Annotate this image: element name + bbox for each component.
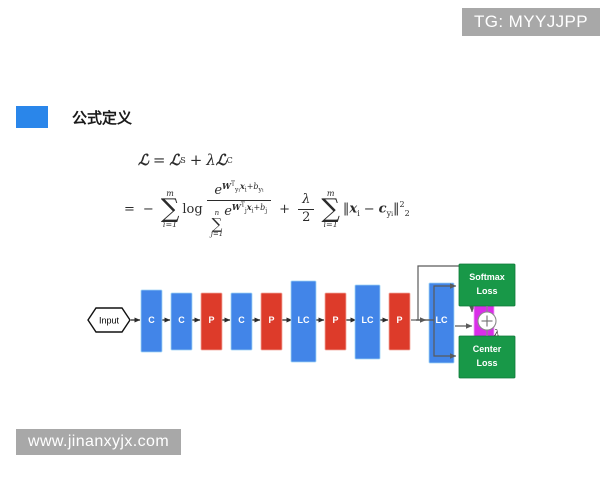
- formula-line-1: ℒ = ℒS + λ ℒC: [120, 145, 520, 175]
- section-title-text: 公式定义: [72, 107, 132, 128]
- exp-base-den: e: [224, 204, 232, 219]
- weight-w-den: W: [232, 202, 241, 212]
- numerator-exponent: WTyixi+byi: [222, 182, 264, 191]
- fc-branch-lines: [416, 286, 456, 356]
- loss-total-symbol: ℒ: [138, 151, 149, 169]
- minus-sign-norm: −: [360, 202, 379, 217]
- sigma-glyph-den: ∑: [212, 217, 223, 231]
- sum-lower-limit-den: j=1: [211, 231, 224, 238]
- exp-base-num: e: [214, 183, 222, 198]
- combine-plus-icon: [478, 312, 496, 330]
- norm-superscript: 2: [400, 200, 405, 209]
- loss-center-symbol: ℒ: [216, 151, 227, 169]
- loss-softmax-symbol: ℒ: [169, 151, 180, 169]
- layer-blocks: C C P C P LC P LC P LC: [141, 281, 454, 363]
- layer-label-6: LC: [298, 315, 310, 325]
- plus-sign-2: +: [275, 202, 294, 217]
- summation-softmax: m ∑ i=1: [161, 190, 180, 229]
- watermark-top-right: TG: MYYJJPP: [462, 8, 600, 36]
- center-loss-label-line2: Loss: [476, 358, 497, 368]
- input-node: Input: [88, 308, 130, 332]
- lambda-over-two: λ 2: [298, 193, 314, 226]
- summation-center: m ∑ i=1: [321, 190, 340, 229]
- log-operator: log: [182, 202, 202, 217]
- center-loss-label-line1: Center: [473, 344, 502, 354]
- weight-w-num: W: [222, 181, 231, 191]
- layer-label-5: P: [268, 315, 274, 325]
- input-node-label: Input: [99, 316, 120, 326]
- formula-line-2: = − m ∑ i=1 log eWTyixi+byi n ∑ j=1 eWTj…: [120, 181, 520, 237]
- layer-label-3: P: [208, 315, 214, 325]
- center-c-symbol: c: [379, 202, 387, 217]
- watermark-bottom-left: www.jinanxyjx.com: [16, 429, 181, 455]
- norm-subscript: 2: [405, 209, 410, 218]
- loss-head-group: Softmax Loss Center Loss λ: [412, 252, 532, 382]
- center-loss-box: Center Loss: [459, 336, 515, 378]
- center-loss-norm: ‖xi−cyi‖22: [343, 200, 410, 218]
- equals-sign-2: =: [120, 202, 139, 217]
- combine-weight-lambda: λ: [493, 329, 500, 339]
- sigma-glyph-2: ∑: [321, 198, 340, 221]
- equals-sign-1: =: [149, 151, 170, 169]
- bias-sub-num-i: i: [262, 187, 264, 193]
- summation-denominator: n ∑ j=1: [211, 210, 224, 238]
- sum-lower-limit-2: i=1: [323, 221, 337, 229]
- fraction-denominator: n ∑ j=1 eWTjxi+bj: [207, 200, 271, 238]
- layer-label-4: C: [238, 315, 245, 325]
- title-bullet-square: [16, 106, 48, 128]
- lambda-symbol-1: λ: [206, 151, 216, 169]
- softmax-loss-label-line1: Softmax: [469, 272, 505, 282]
- loss-center-subscript: C: [227, 156, 233, 165]
- plus-sign-1: +: [186, 151, 207, 169]
- layer-label-7: P: [332, 315, 338, 325]
- formula-block: ℒ = ℒS + λ ℒC = − m ∑ i=1 log eWTyixi+by…: [120, 145, 520, 237]
- denominator-two: 2: [298, 209, 314, 226]
- sum-lower-limit-1: i=1: [163, 221, 177, 229]
- lambda-symbol-2: λ: [298, 193, 314, 209]
- section-title: 公式定义: [16, 106, 132, 128]
- bias-sub-den: j: [265, 207, 267, 214]
- denominator-exponent: WTjxi+bj: [232, 203, 267, 212]
- layer-label-1: C: [148, 315, 155, 325]
- minus-sign: −: [139, 202, 158, 217]
- softmax-fraction: eWTyixi+byi n ∑ j=1 eWTjxi+bj: [207, 181, 271, 237]
- layer-label-9: P: [396, 315, 402, 325]
- softmax-loss-label-line2: Loss: [476, 286, 497, 296]
- sigma-glyph-1: ∑: [161, 198, 180, 221]
- softmax-loss-box: Softmax Loss: [459, 264, 515, 306]
- fraction-numerator: eWTyixi+byi: [210, 181, 267, 200]
- layer-label-8: LC: [362, 315, 374, 325]
- layer-label-2: C: [178, 315, 185, 325]
